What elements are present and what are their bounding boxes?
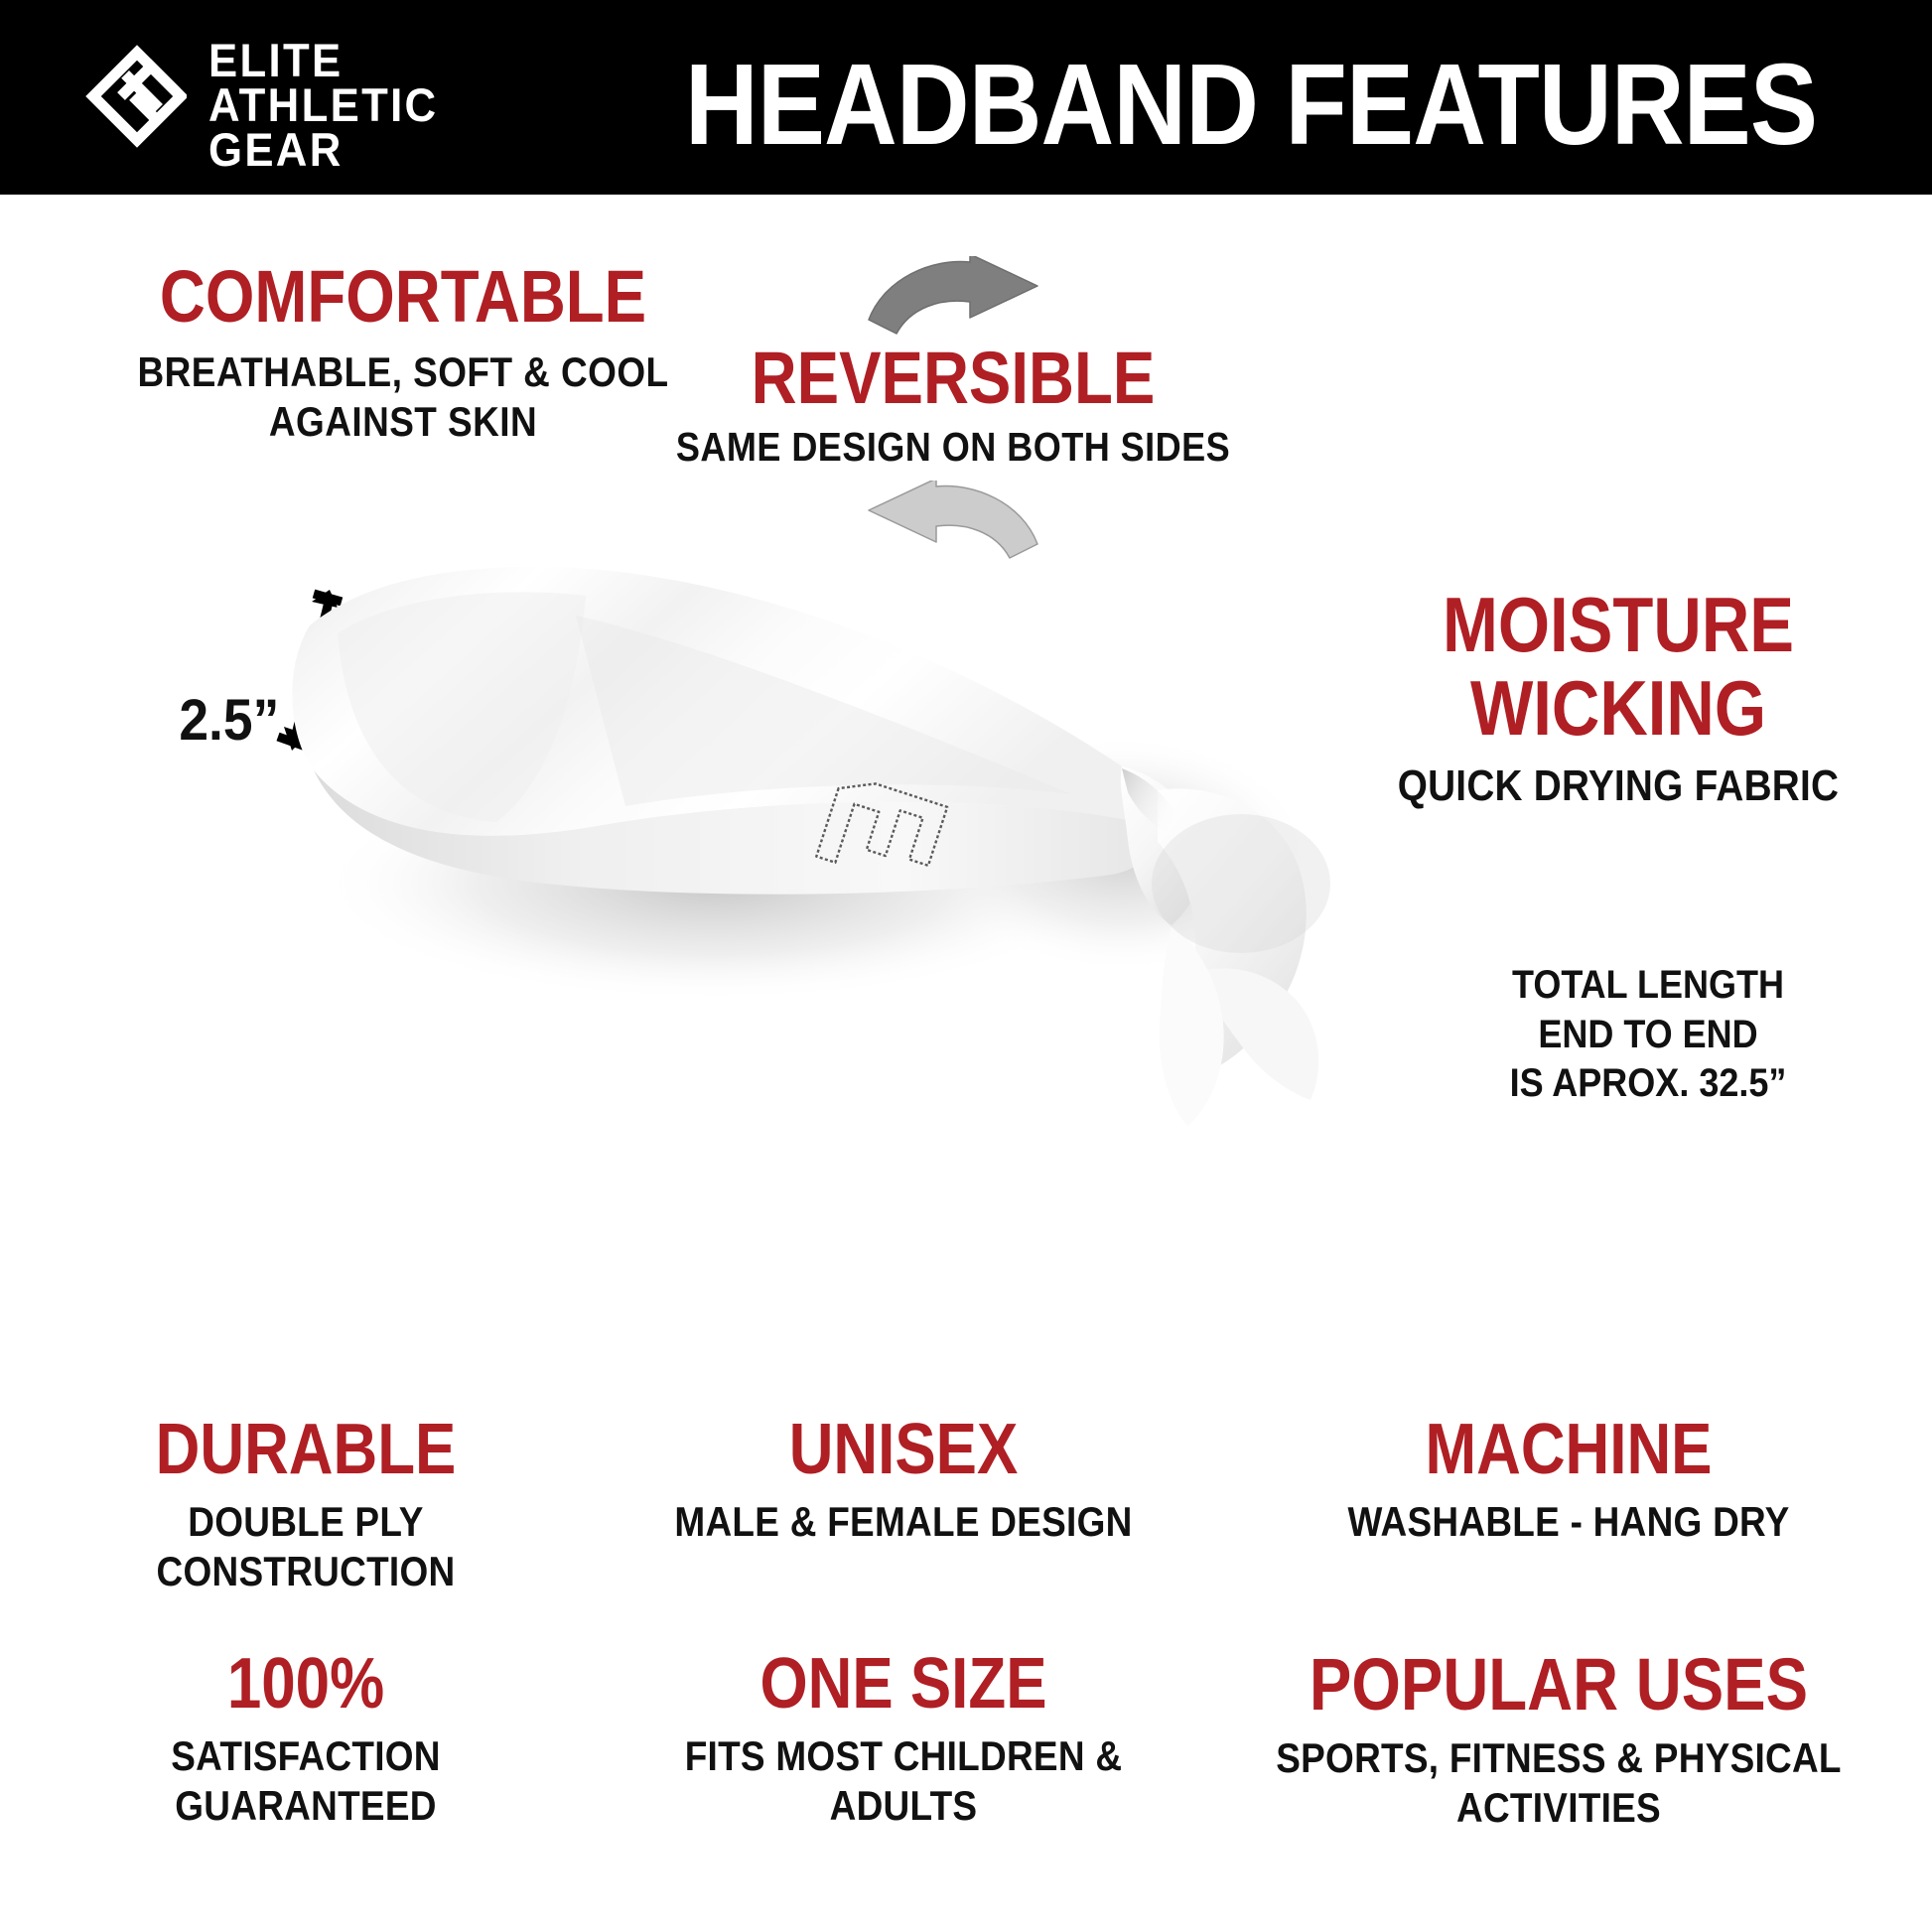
page-title: HEADBAND FEATURES bbox=[685, 42, 1817, 169]
feature-moisture-title-line1: MOISTURE bbox=[1362, 586, 1874, 663]
feature-unisex-subtitle: MALE & FEMALE DESIGN bbox=[598, 1497, 1209, 1547]
feature-machine-title: MACHINE bbox=[1287, 1414, 1851, 1485]
feature-popular-uses-subtitle-line2: ACTIVITIES bbox=[1249, 1783, 1869, 1833]
feature-satisfaction-subtitle-line1: SATISFACTION bbox=[62, 1731, 551, 1781]
brand-wordmark: ELITE ATHLETIC GEAR bbox=[208, 38, 456, 172]
product-headband-image bbox=[248, 556, 1350, 1172]
feature-durable-subtitle-line1: DOUBLE PLY bbox=[62, 1497, 551, 1547]
feature-machine-subtitle: WASHABLE - HANG DRY bbox=[1281, 1497, 1858, 1547]
feature-unisex-title: UNISEX bbox=[605, 1414, 1202, 1485]
feature-reversible-subtitle: SAME DESIGN ON BOTH SIDES bbox=[673, 423, 1232, 471]
feature-satisfaction: 100% SATISFACTION GUARANTEED bbox=[28, 1648, 584, 1830]
feature-moisture-subtitle: QUICK DRYING FABRIC bbox=[1356, 760, 1880, 812]
total-length-line3: IS APROX. 32.5” bbox=[1443, 1059, 1854, 1109]
feature-durable: DURABLE DOUBLE PLY CONSTRUCTION bbox=[28, 1414, 584, 1595]
feature-comfortable-subtitle-line1: BREATHABLE, SOFT & COOL bbox=[132, 347, 674, 397]
feature-machine-washable: MACHINE WASHABLE - HANG DRY bbox=[1241, 1414, 1896, 1547]
feature-popular-uses: POPULAR USES SPORTS, FITNESS & PHYSICAL … bbox=[1206, 1648, 1911, 1832]
feature-one-size: ONE SIZE FITS MOST CHILDREN & ADULTS bbox=[556, 1648, 1251, 1830]
brand-line-athletic: ATHLETIC bbox=[208, 82, 438, 127]
feature-one-size-subtitle-line2: ADULTS bbox=[598, 1781, 1209, 1831]
infographic-page: ELITE ATHLETIC GEAR HEADBAND FEATURES CO… bbox=[0, 0, 1932, 1932]
feature-reversible: REVERSIBLE SAME DESIGN ON BOTH SIDES bbox=[635, 256, 1271, 560]
elite-diamond-logo-icon bbox=[85, 45, 187, 166]
feature-one-size-subtitle-line1: FITS MOST CHILDREN & bbox=[598, 1731, 1209, 1781]
feature-popular-uses-subtitle-line1: SPORTS, FITNESS & PHYSICAL bbox=[1249, 1733, 1869, 1783]
feature-reversible-title: REVERSIBLE bbox=[680, 342, 1226, 415]
feature-unisex: UNISEX MALE & FEMALE DESIGN bbox=[556, 1414, 1251, 1547]
feature-comfortable-subtitle-line2: AGAINST SKIN bbox=[132, 397, 674, 447]
feature-durable-subtitle-line2: CONSTRUCTION bbox=[62, 1547, 551, 1596]
feature-durable-title: DURABLE bbox=[67, 1414, 545, 1485]
curved-arrow-left-icon bbox=[863, 481, 1043, 560]
feature-popular-uses-title: POPULAR USES bbox=[1256, 1648, 1863, 1722]
curved-arrow-right-icon bbox=[863, 256, 1043, 336]
feature-satisfaction-subtitle-line2: GUARANTEED bbox=[62, 1781, 551, 1831]
total-length-note: TOTAL LENGTH END TO END IS APROX. 32.5” bbox=[1443, 961, 1854, 1109]
feature-comfortable: COMFORTABLE BREATHABLE, SOFT & COOL AGAI… bbox=[95, 260, 711, 446]
feature-moisture-title-line2: WICKING bbox=[1362, 669, 1874, 747]
brand-line-gear: GEAR bbox=[208, 127, 438, 172]
brand-line-elite: ELITE bbox=[208, 38, 438, 82]
feature-comfortable-title: COMFORTABLE bbox=[138, 260, 667, 334]
total-length-line2: END TO END bbox=[1443, 1011, 1854, 1060]
feature-one-size-title: ONE SIZE bbox=[605, 1648, 1202, 1720]
header-bar: ELITE ATHLETIC GEAR HEADBAND FEATURES bbox=[0, 0, 1932, 195]
feature-moisture-wicking: MOISTURE WICKING QUICK DRYING FABRIC bbox=[1320, 586, 1916, 812]
feature-satisfaction-title: 100% bbox=[67, 1648, 545, 1720]
brand-lockup: ELITE ATHLETIC GEAR bbox=[85, 38, 456, 172]
total-length-line1: TOTAL LENGTH bbox=[1443, 961, 1854, 1011]
